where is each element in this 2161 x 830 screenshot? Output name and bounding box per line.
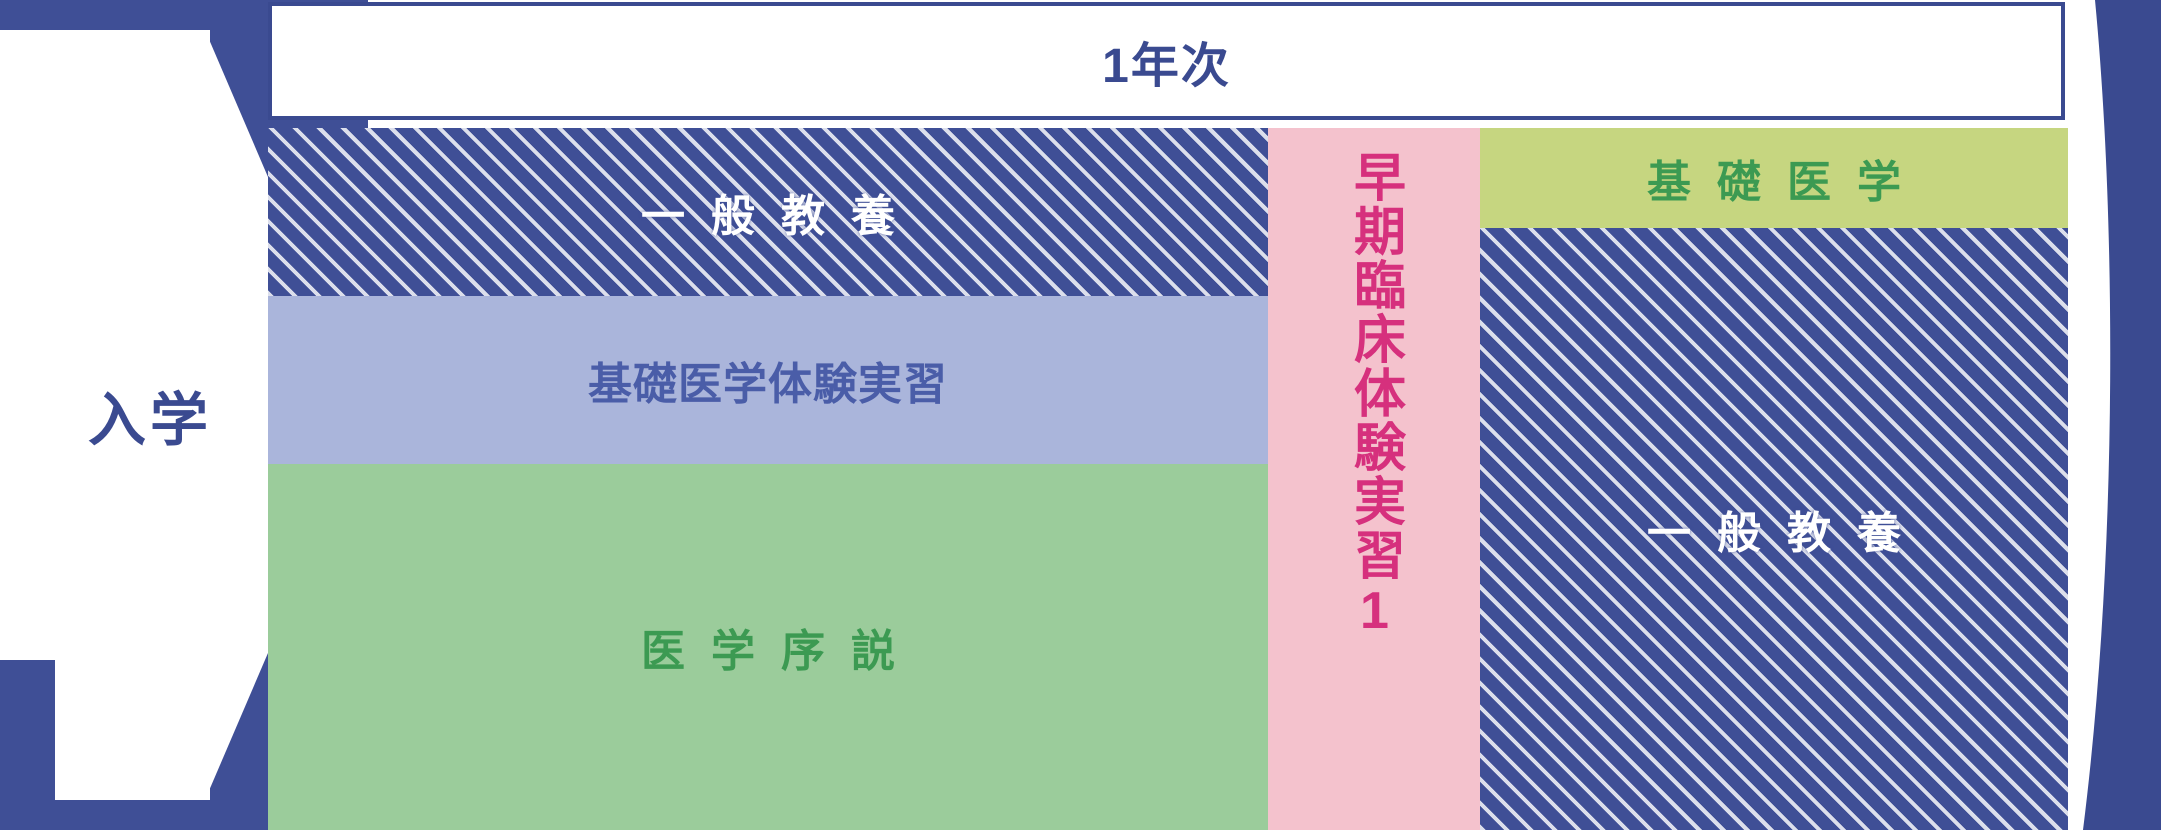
course-block-basic-medicine[interactable]: 基礎医学 xyxy=(1480,128,2068,228)
course-label: 基礎医学 xyxy=(1621,146,1927,210)
course-label: 医学序説 xyxy=(615,615,921,679)
curriculum-board: 1年次 一般教養 基礎医学体験実習 医学序説 早期臨床体験実習1 xyxy=(268,0,2068,830)
right-band-shape xyxy=(2065,0,2161,830)
right-decorative-band xyxy=(2065,0,2161,830)
entry-arrow-label: 入学 xyxy=(0,0,300,830)
course-label: 一般教養 xyxy=(1621,497,1927,561)
course-label: 基礎医学体験実習 xyxy=(588,348,948,412)
course-block-basic-medicine-practicum[interactable]: 基礎医学体験実習 xyxy=(268,296,1268,464)
course-label: 一般教養 xyxy=(615,180,921,244)
course-label-vertical: 早期臨床体験実習1 xyxy=(1347,150,1400,642)
curriculum-diagram-slide: 入学 1年次 一般教養 基礎医学体験実習 医学序説 早期臨床体験実習1 xyxy=(0,0,2161,830)
left-course-column: 一般教養 基礎医学体験実習 医学序説 xyxy=(268,128,1268,830)
course-block-introduction-to-medicine[interactable]: 医学序説 xyxy=(268,464,1268,830)
course-block-general-education-right[interactable]: 一般教養 xyxy=(1480,228,2068,830)
year-header: 1年次 xyxy=(268,2,2065,120)
right-course-column: 基礎医学 一般教養 xyxy=(1480,128,2068,830)
year-header-label: 1年次 xyxy=(1102,26,1231,96)
course-block-general-education-left[interactable]: 一般教養 xyxy=(268,128,1268,296)
curriculum-body-row: 一般教養 基礎医学体験実習 医学序説 早期臨床体験実習1 基礎医学 一般 xyxy=(268,128,2068,830)
course-block-early-clinical-experience[interactable]: 早期臨床体験実習1 xyxy=(1268,128,1480,830)
